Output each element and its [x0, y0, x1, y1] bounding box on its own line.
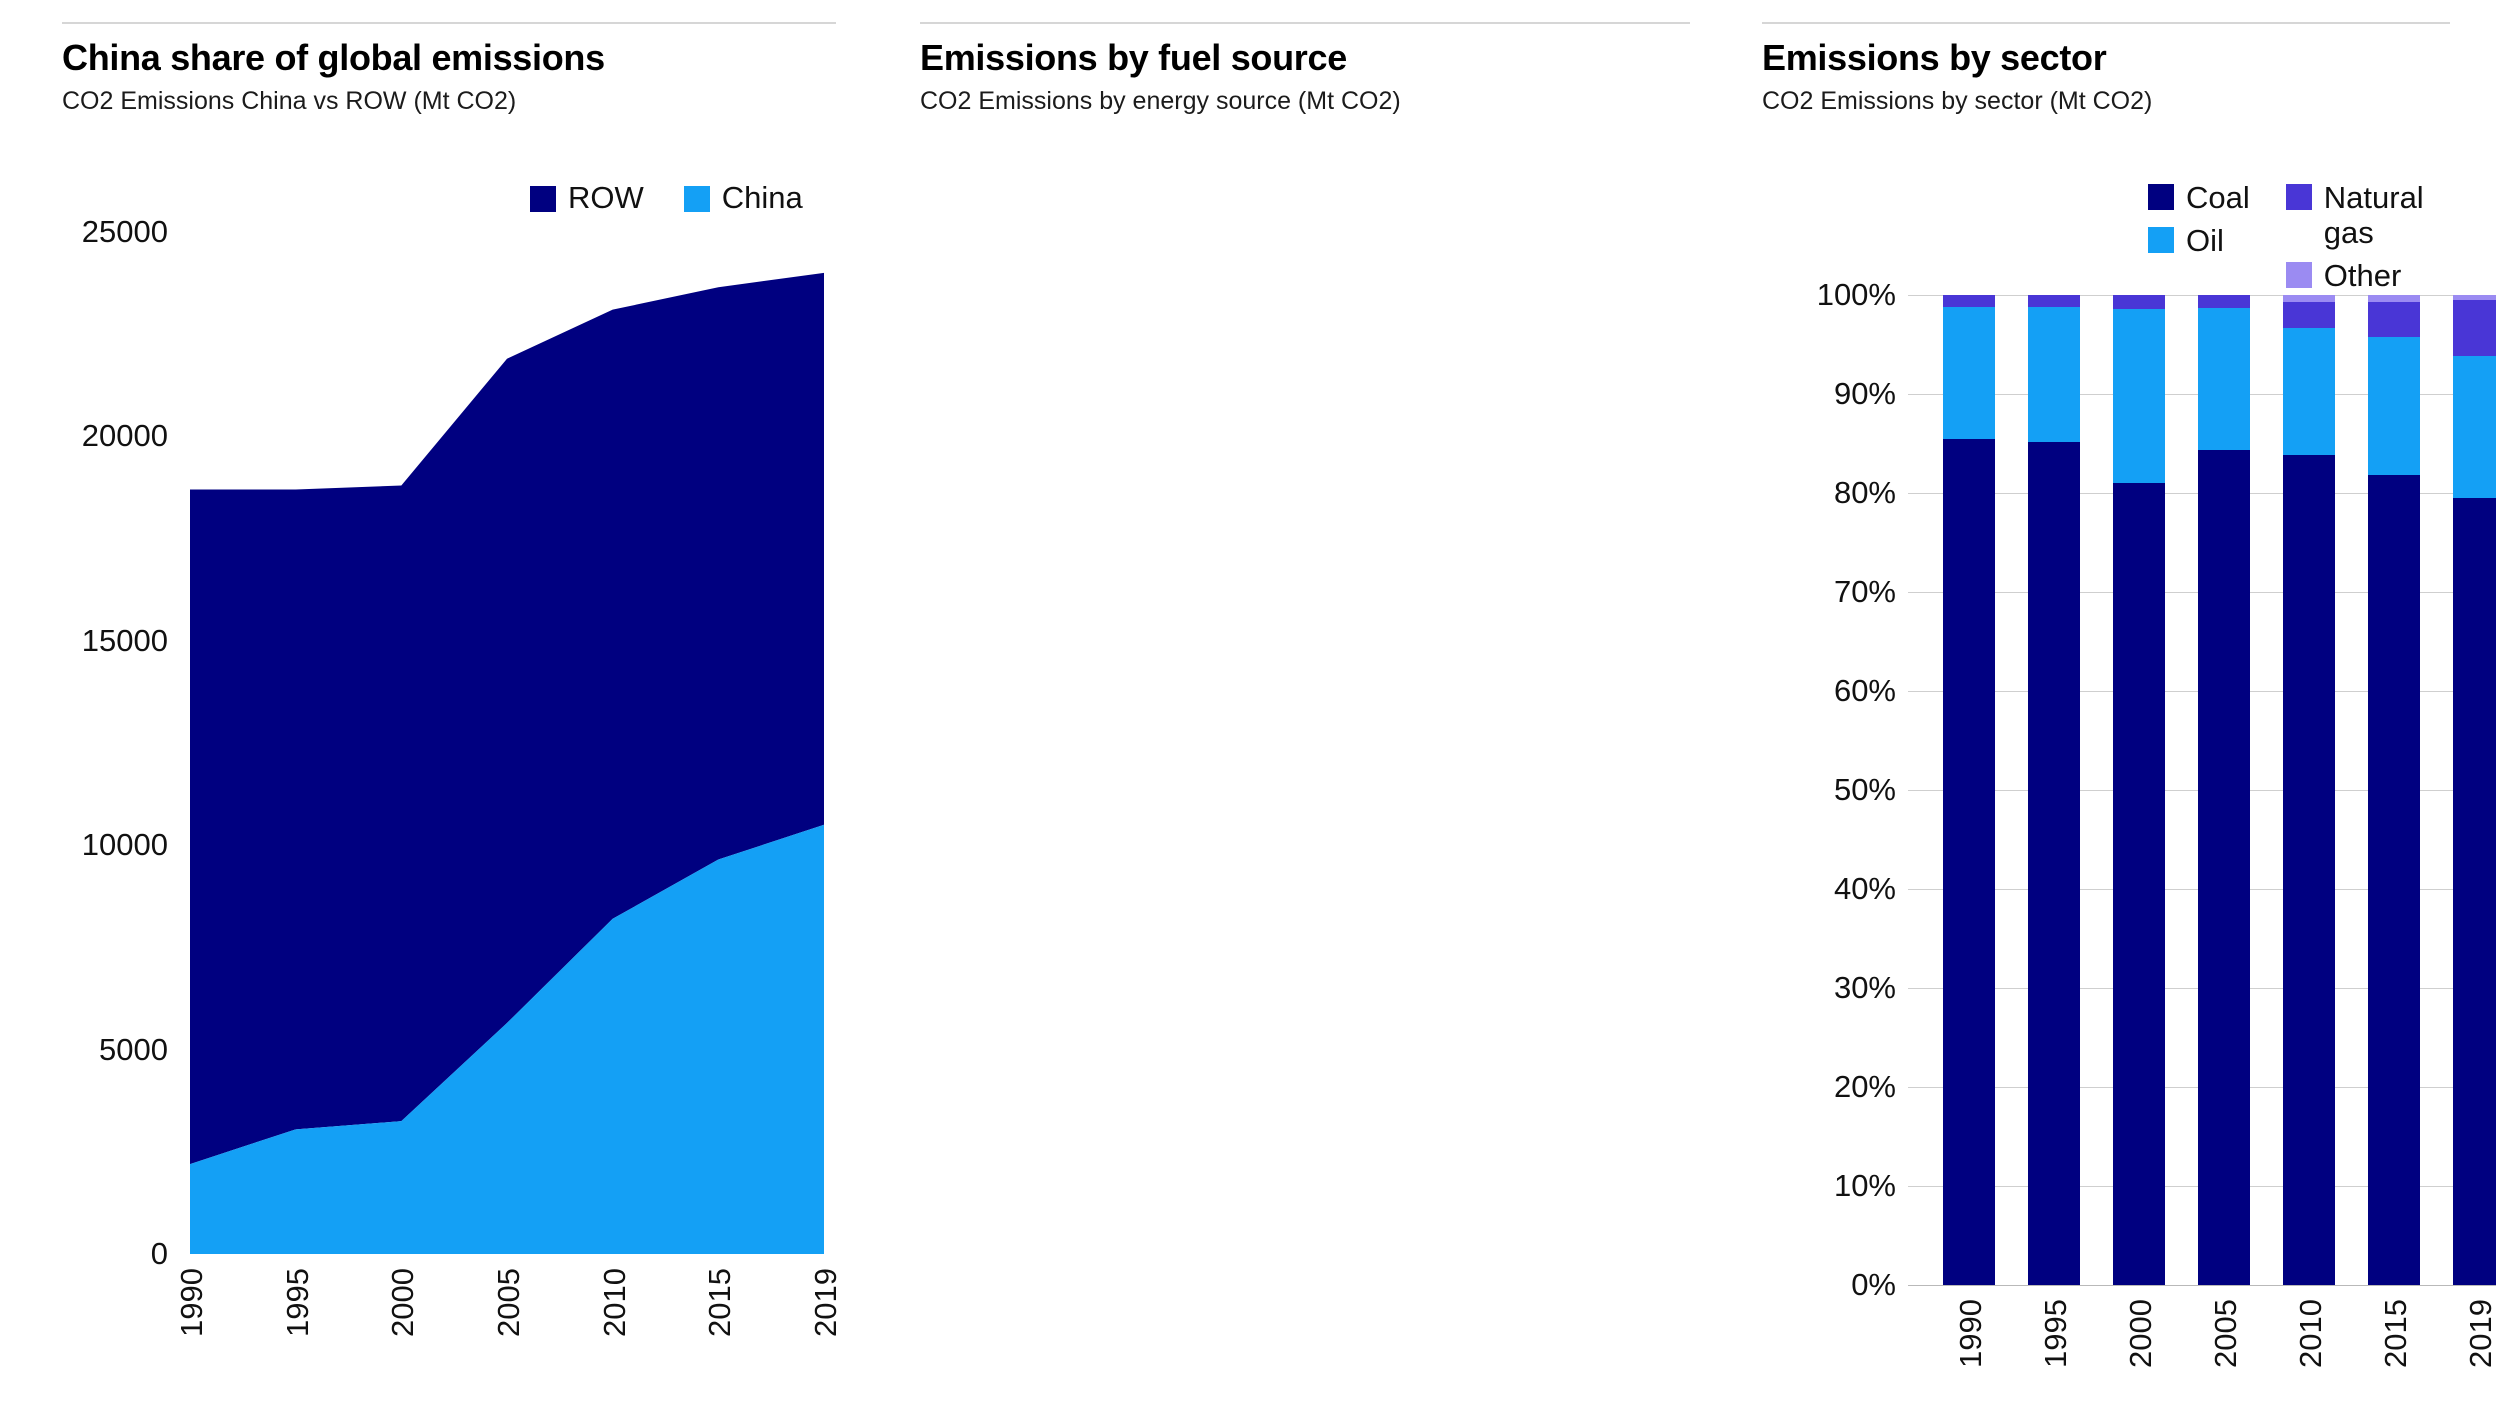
legend1-item-0: ROW [530, 180, 644, 215]
x-tick-label-chart1-5: 2015 [702, 1268, 738, 1337]
x-tick-label-chart1-1: 1995 [280, 1268, 316, 1337]
y-tick-label-chart1-5: 25000 [82, 214, 168, 250]
legend1-label-0: ROW [568, 180, 644, 215]
legend1-item-1: China [684, 180, 803, 215]
legend1-swatch-icon-0 [530, 186, 556, 212]
legend1-label-1: China [722, 180, 803, 215]
panel-sector: Emissions by sector CO2 Emissions by sec… [1730, 0, 2496, 1404]
panel-fuel-source: Emissions by fuel source CO2 Emissions b… [880, 0, 1730, 1404]
x-tick-label-chart1-4: 2010 [597, 1268, 633, 1337]
legend-chart-1: ROWChina [530, 180, 843, 215]
panel-china-share: China share of global emissions CO2 Emis… [0, 0, 880, 1404]
page-title-3: Emissions by sector [1762, 38, 2496, 78]
x-tick-label-chart1-2: 2000 [385, 1268, 421, 1337]
legend1-swatch-icon-1 [684, 186, 710, 212]
y-tick-label-chart1-0: 0 [151, 1236, 168, 1272]
y-tick-label-chart1-1: 5000 [99, 1032, 168, 1068]
page-title-1: China share of global emissions [62, 38, 880, 78]
y-tick-label-chart1-3: 15000 [82, 623, 168, 659]
x-tick-label-chart1-6: 2019 [808, 1268, 844, 1337]
panel-divider-2 [920, 22, 1690, 24]
y-tick-label-chart1-4: 20000 [82, 418, 168, 454]
y-tick-label-chart1-2: 10000 [82, 827, 168, 863]
x-tick-label-chart1-0: 1990 [174, 1268, 210, 1337]
page-subtitle-1: CO2 Emissions China vs ROW (Mt CO2) [62, 86, 880, 116]
page-subtitle-2: CO2 Emissions by energy source (Mt CO2) [920, 86, 1730, 116]
page-subtitle-3: CO2 Emissions by sector (Mt CO2) [1762, 86, 2496, 116]
emissions-dashboard: China share of global emissions CO2 Emis… [0, 0, 2496, 1404]
x-tick-label-chart1-3: 2005 [491, 1268, 527, 1337]
panel-divider-3 [1762, 22, 2450, 24]
plot-area-china-share: 0500010000150002000025000199019952000200… [190, 232, 824, 1254]
page-title-2: Emissions by fuel source [920, 38, 1730, 78]
area-chart-china-share [190, 232, 824, 1254]
panel-divider-1 [62, 22, 836, 24]
